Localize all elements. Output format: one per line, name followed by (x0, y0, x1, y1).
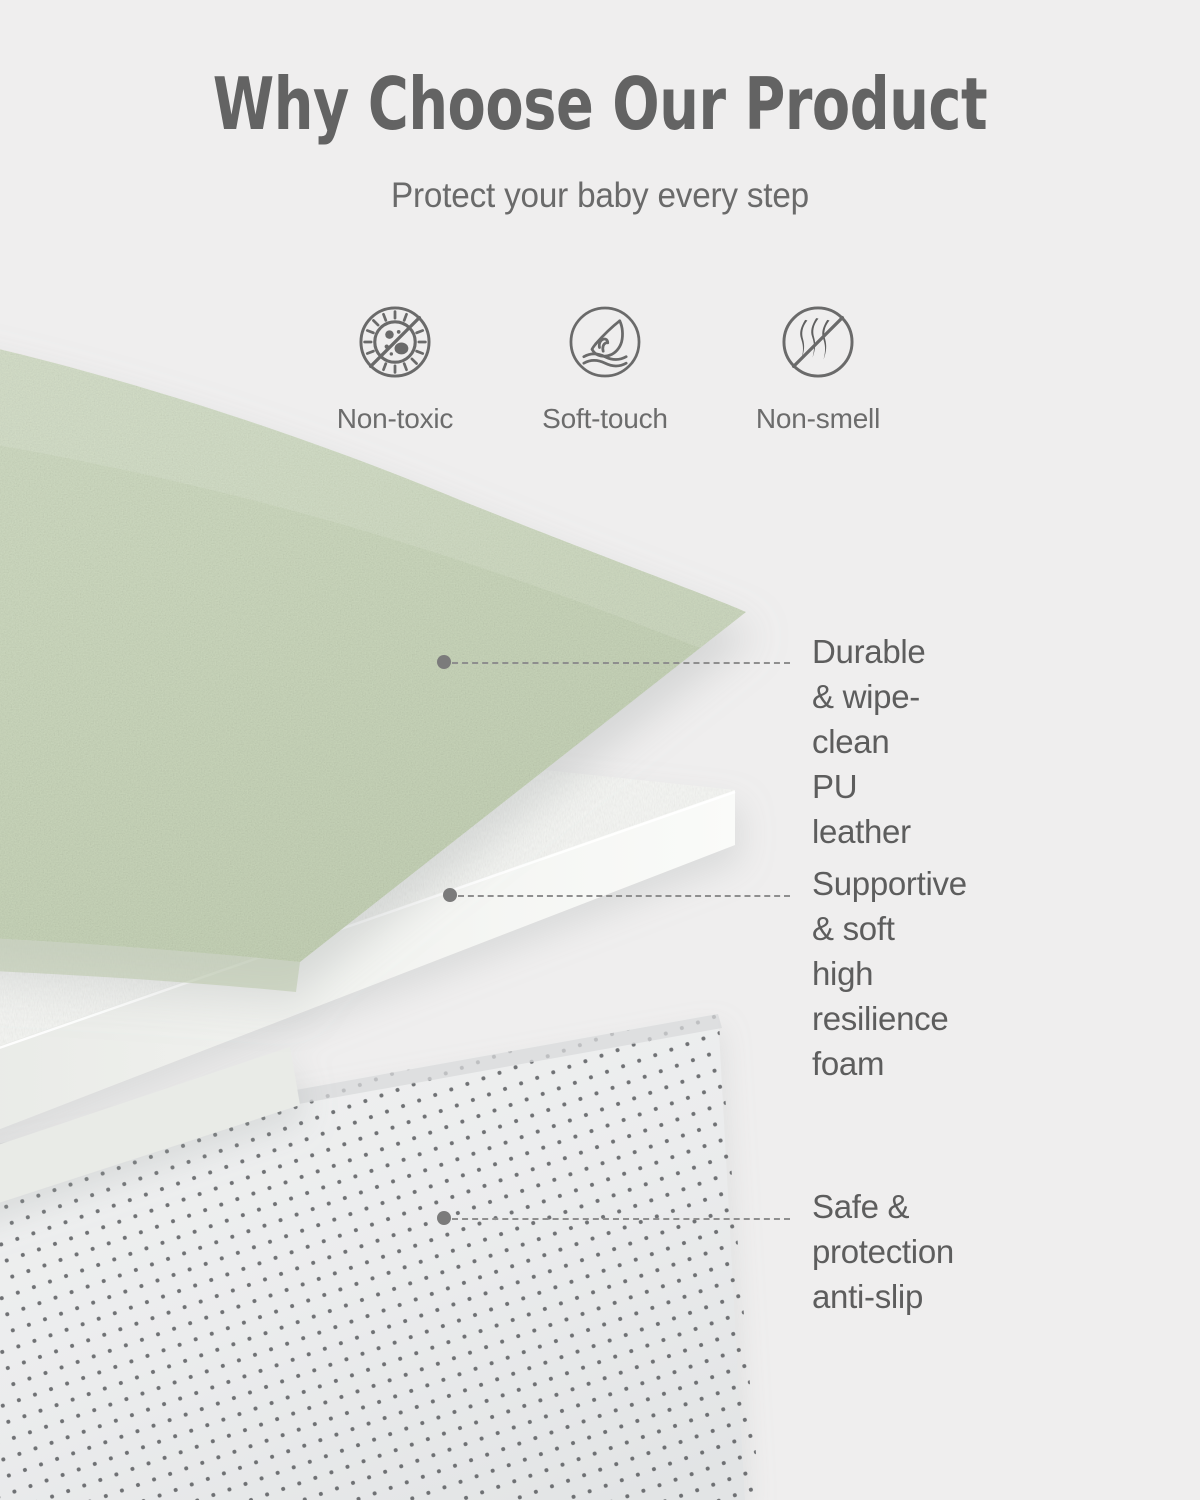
hand-touch-surface-icon (559, 296, 651, 388)
callout-dot (437, 655, 451, 669)
header: Why Choose Our Product Protect your baby… (0, 0, 1200, 216)
feature-label: Non-toxic (305, 403, 485, 435)
callout-dot (443, 888, 457, 902)
callout-dot (437, 1211, 451, 1225)
feature-non-toxic: Non-toxic (305, 296, 485, 435)
feature-non-smell: Non-smell (728, 296, 908, 435)
callout-leader-line (452, 1218, 790, 1220)
odor-waves-slash-icon (772, 296, 864, 388)
feature-label: Non-smell (728, 403, 908, 435)
layered-product-illustration (0, 0, 1200, 1500)
page-subtitle: Protect your baby every step (30, 140, 1170, 216)
feature-soft-touch: Soft-touch (515, 296, 695, 435)
callout-leader-line (452, 662, 790, 664)
virus-slash-icon (349, 296, 441, 388)
callout-text: Safe & protection anti-slip (812, 1185, 954, 1320)
page-title: Why Choose Our Product (84, 0, 1116, 140)
feature-badges: Non-toxic Soft-touc (0, 296, 1200, 456)
callout-leader-line (458, 895, 790, 897)
callout-text: Durable & wipe-clean PU leather (812, 630, 925, 854)
product-infographic: Why Choose Our Product Protect your baby… (0, 0, 1200, 1500)
feature-label: Soft-touch (515, 403, 695, 435)
callout-text: Supportive & soft high resilience foam (812, 862, 967, 1086)
